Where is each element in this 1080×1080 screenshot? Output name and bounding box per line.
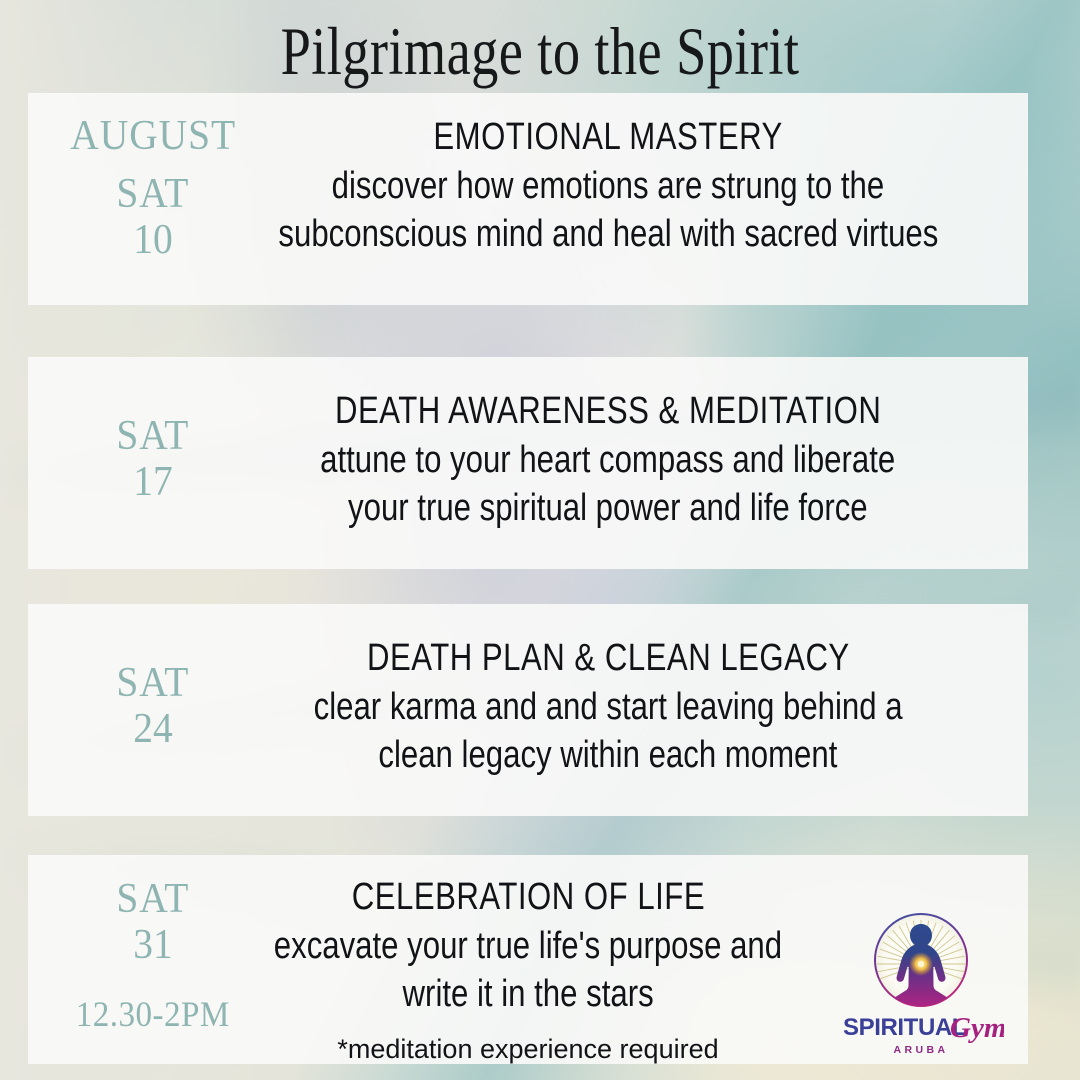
- event-desc-1-line-1: discover how emotions are strung to the: [332, 162, 885, 211]
- event-day-1: 10: [133, 218, 172, 262]
- spiritual-gym-logo[interactable]: SPIRITUAL Gym ARUBA: [838, 908, 1004, 1058]
- logo-tagline: ARUBA: [894, 1044, 949, 1056]
- event-body-2: DEATH AWARENESS & MEDITATION attune to y…: [188, 357, 1028, 569]
- event-title-3: DEATH PLAN & CLEAN LEGACY: [367, 634, 850, 683]
- event-body-4: CELEBRATION OF LIFE excavate your true l…: [178, 855, 878, 1064]
- event-note-4: *meditation experience required: [337, 1033, 718, 1065]
- event-day-of-week-2: SAT: [116, 413, 189, 460]
- event-day-4: 31: [133, 923, 172, 967]
- event-desc-4-line-2: write it in the stars: [402, 970, 653, 1019]
- event-title-1: EMOTIONAL MASTERY: [433, 113, 782, 162]
- event-desc-2-line-1: attune to your heart compass and liberat…: [320, 436, 895, 485]
- event-card-3: SAT 24 DEATH PLAN & CLEAN LEGACY clear k…: [28, 604, 1028, 816]
- event-card-1: AUGUST SAT 10 EMOTIONAL MASTERY discover…: [28, 93, 1028, 305]
- event-card-2: SAT 17 DEATH AWARENESS & MEDITATION attu…: [28, 357, 1028, 569]
- event-desc-3-line-2: clean legacy within each moment: [379, 731, 838, 780]
- event-day-of-week-3: SAT: [116, 660, 189, 707]
- logo-word-primary: SPIRITUAL: [843, 1014, 966, 1041]
- event-day-2: 17: [133, 460, 172, 504]
- event-card-4: SAT 31 12.30-2PM CELEBRATION OF LIFE exc…: [28, 855, 1028, 1064]
- logo-word-secondary: Gym: [950, 1012, 1004, 1044]
- event-body-1: EMOTIONAL MASTERY discover how emotions …: [188, 93, 1028, 305]
- poster-canvas: Pilgrimage to the Spirit AUGUST SAT 10 E…: [0, 0, 1080, 1080]
- page-title: Pilgrimage to the Spirit: [108, 16, 972, 87]
- event-desc-2-line-2: your true spiritual power and life force: [348, 484, 868, 533]
- event-title-4: CELEBRATION OF LIFE: [351, 873, 704, 922]
- event-body-3: DEATH PLAN & CLEAN LEGACY clear karma an…: [188, 604, 1028, 816]
- event-desc-3-line-1: clear karma and and start leaving behind…: [314, 683, 903, 732]
- event-desc-4-line-1: excavate your true life's purpose and: [274, 922, 782, 971]
- event-day-of-week-1: SAT: [116, 171, 189, 218]
- logo-emblem-icon: [875, 914, 967, 1008]
- event-desc-1-line-2: subconscious mind and heal with sacred v…: [278, 210, 938, 259]
- event-title-2: DEATH AWARENESS & MEDITATION: [335, 387, 881, 436]
- event-day-3: 24: [133, 707, 172, 751]
